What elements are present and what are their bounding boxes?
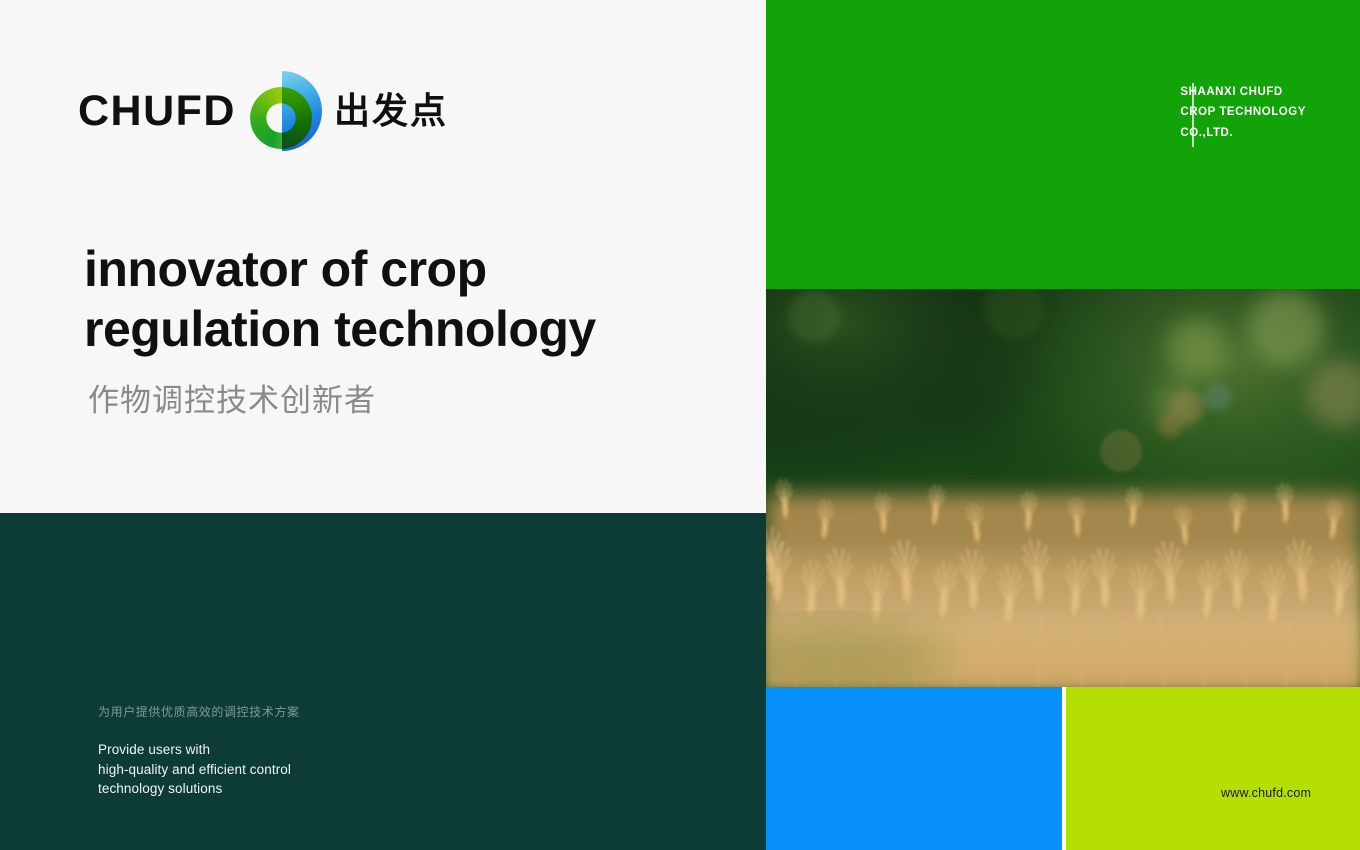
- tagline-english-line-2: high-quality and efficient control: [98, 760, 458, 780]
- logo-wordmark: CHUFD: [78, 90, 236, 133]
- tagline-chinese: 为用户提供优质高效的调控技术方案: [98, 703, 458, 721]
- left-dark-teal-panel: [0, 513, 766, 850]
- tagline-block: 为用户提供优质高效的调控技术方案 Provide users with high…: [98, 703, 458, 799]
- chufd-circle-logo-icon: [250, 68, 322, 154]
- tagline-english-line-1: Provide users with: [98, 740, 458, 760]
- lime-accent-block: [1066, 687, 1360, 850]
- green-header-panel: [766, 0, 1360, 289]
- page-subtitle: 作物调控技术创新者: [88, 375, 376, 420]
- wheat-field-photo: [766, 289, 1360, 687]
- corporate-name-line-3: CO.,LTD.: [1180, 123, 1306, 143]
- headline-line-1: innovator of crop: [84, 240, 724, 300]
- page-title: innovator of crop regulation technology: [84, 240, 724, 359]
- brand-logo[interactable]: CHUFD 出发点: [78, 68, 448, 154]
- wheat-field-illustration: [766, 289, 1360, 687]
- tagline-english-line-3: technology solutions: [98, 779, 458, 799]
- logo-chinese-name: 出发点: [334, 93, 448, 129]
- corporate-name-line-1: SHAANXI CHUFD: [1180, 82, 1306, 102]
- logo-blue-halfdisc-icon: [282, 71, 322, 151]
- corporate-name: SHAANXI CHUFD CROP TECHNOLOGY CO.,LTD.: [1180, 82, 1306, 143]
- headline-line-2: regulation technology: [84, 300, 724, 360]
- corporate-name-line-2: CROP TECHNOLOGY: [1180, 102, 1306, 122]
- blue-accent-block: [766, 687, 1062, 850]
- brand-cover-page: CHUFD 出发点 innovator of crop regulation t…: [0, 0, 1360, 850]
- website-url[interactable]: www.chufd.com: [1221, 786, 1311, 800]
- tagline-english: Provide users with high-quality and effi…: [98, 740, 458, 799]
